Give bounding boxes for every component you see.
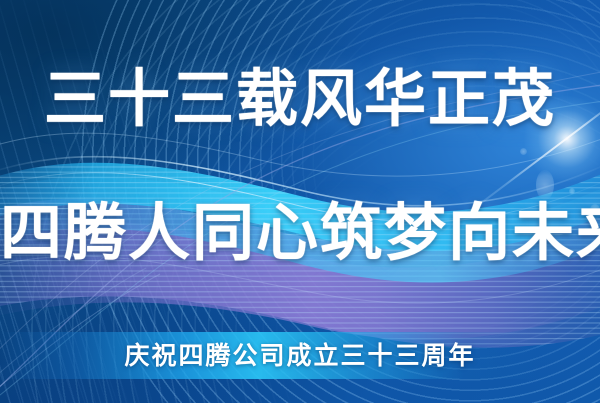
subtitle-text: 庆祝四腾公司成立三十三周年 [0, 339, 600, 373]
headline-line-2: 四腾人同心筑梦向未来 [0, 196, 600, 272]
anniversary-banner: 三十三载风华正茂 四腾人同心筑梦向未来 庆祝四腾公司成立三十三周年 [0, 0, 600, 403]
headline-line-1: 三十三载风华正茂 [0, 62, 600, 138]
